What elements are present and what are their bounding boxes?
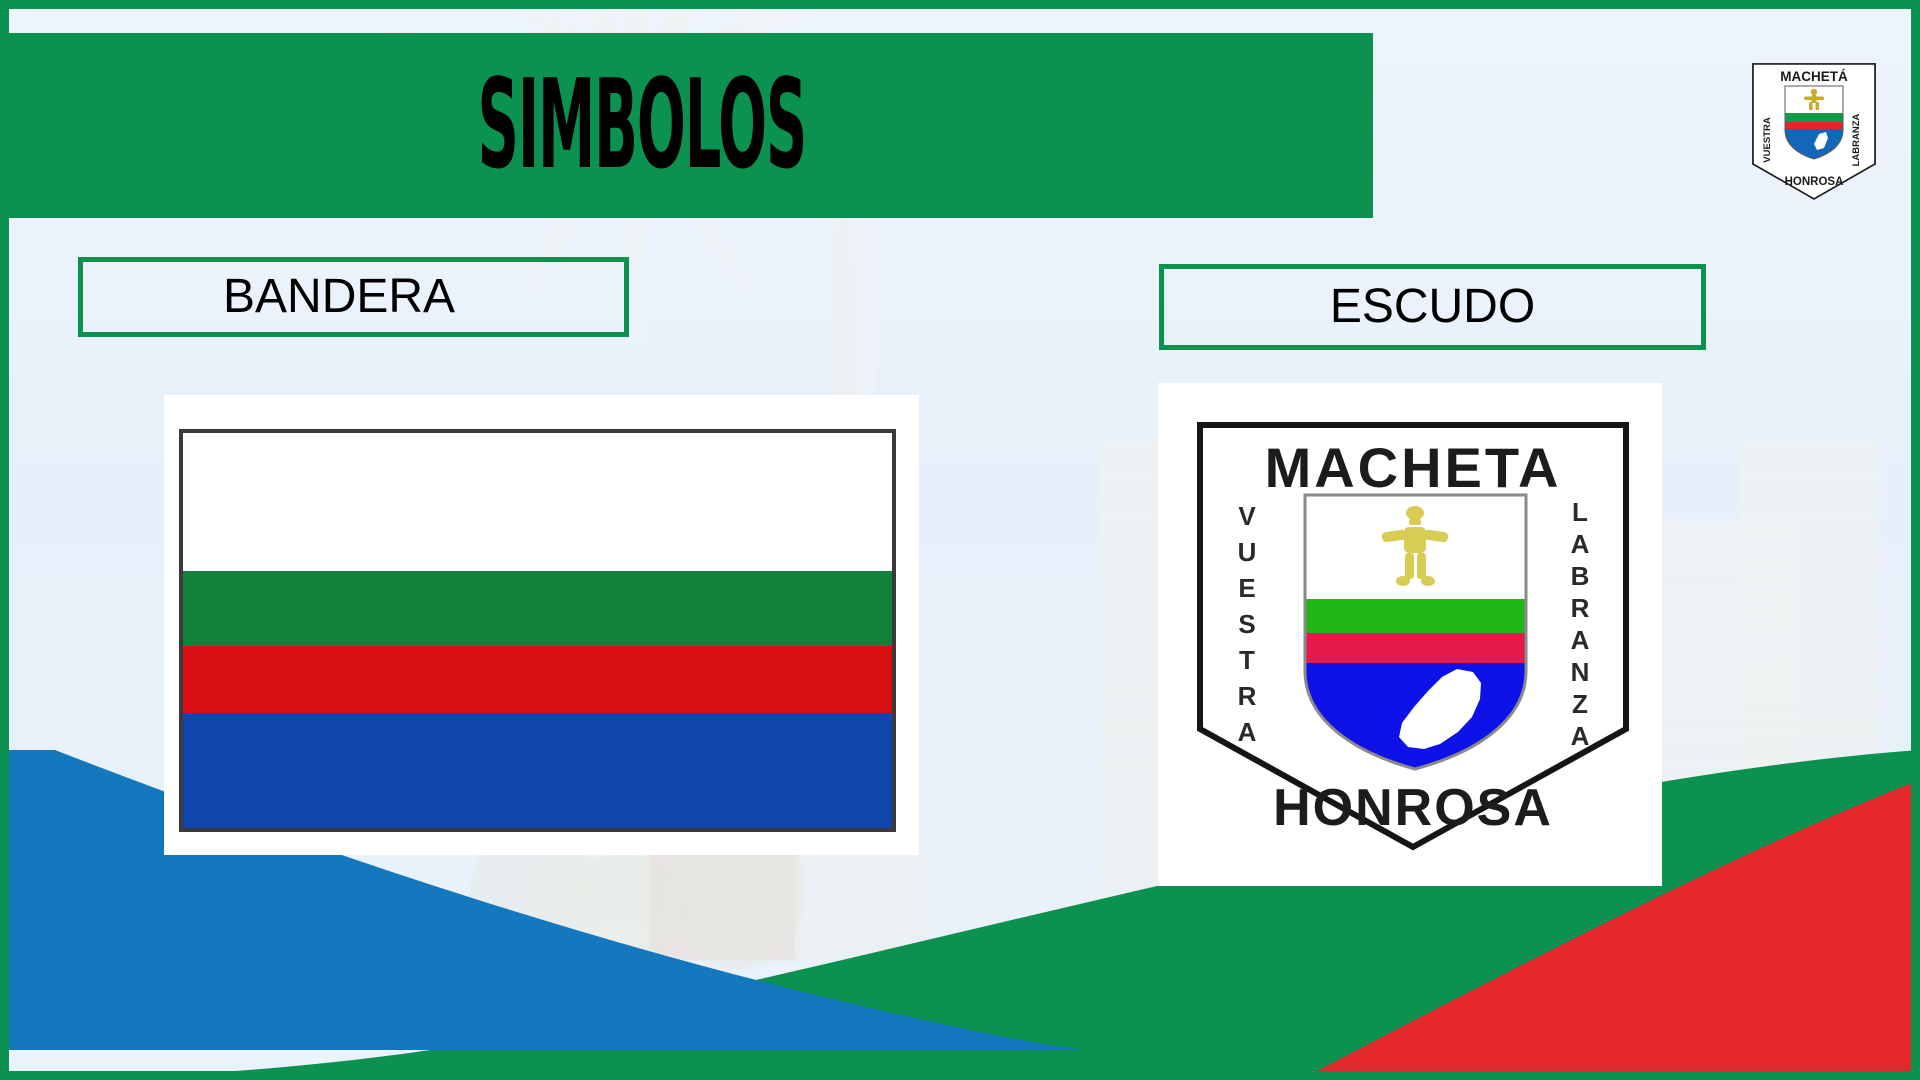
corner-logo-top-motto: MACHETÁ xyxy=(1780,69,1848,84)
svg-text:E: E xyxy=(1238,573,1255,603)
frame-top-border xyxy=(0,0,1920,9)
svg-text:N: N xyxy=(1571,657,1590,687)
frame-left-border xyxy=(0,0,9,1080)
flag-band-blue xyxy=(183,713,892,828)
svg-text:A: A xyxy=(1571,721,1590,751)
title-banner: SIMBOLOS xyxy=(0,33,1373,218)
corner-logo-left-motto: VUESTRA xyxy=(1762,117,1773,163)
escudo-bottom-motto: HONROSA xyxy=(1273,779,1553,837)
svg-text:T: T xyxy=(1239,645,1255,675)
svg-text:V: V xyxy=(1238,501,1256,531)
escudo-image: MACHETA V U E S T R A L A B R A N Z A xyxy=(1192,417,1634,855)
flag-band-green xyxy=(183,571,892,646)
label-escudo-text: ESCUDO xyxy=(1330,283,1535,331)
svg-text:Z: Z xyxy=(1572,689,1588,719)
svg-text:A: A xyxy=(1238,717,1257,747)
svg-text:A: A xyxy=(1571,529,1590,559)
svg-text:S: S xyxy=(1238,609,1255,639)
svg-text:A: A xyxy=(1571,625,1590,655)
svg-text:L: L xyxy=(1572,497,1588,527)
frame-right-border xyxy=(1911,0,1920,1080)
slide-canvas: SIMBOLOS MACHETÁ VUESTRA LABRANZA xyxy=(0,0,1920,1080)
flag-image xyxy=(179,429,896,832)
escudo-band-red xyxy=(1305,633,1526,663)
escudo-top-motto: MACHETA xyxy=(1265,436,1562,499)
flag-band-red xyxy=(183,646,892,713)
label-bandera-text: BANDERA xyxy=(223,273,455,321)
corner-logo-right-motto: LABRANZA xyxy=(1851,113,1862,166)
escudo-left-motto: V U E S T R A xyxy=(1238,501,1257,747)
escudo-band-green xyxy=(1305,599,1526,633)
svg-text:U: U xyxy=(1238,537,1257,567)
corner-logo-bottom-motto: HONROSA xyxy=(1785,176,1844,188)
label-box-escudo: ESCUDO xyxy=(1159,264,1706,350)
svg-text:R: R xyxy=(1571,593,1590,623)
corner-crest-logo: MACHETÁ VUESTRA LABRANZA xyxy=(1751,62,1877,202)
flag-band-white xyxy=(183,433,892,571)
frame-bottom-border xyxy=(0,1071,1920,1080)
svg-text:B: B xyxy=(1571,561,1590,591)
svg-text:R: R xyxy=(1238,681,1257,711)
page-title: SIMBOLOS xyxy=(477,67,806,184)
label-box-bandera: BANDERA xyxy=(78,257,629,337)
